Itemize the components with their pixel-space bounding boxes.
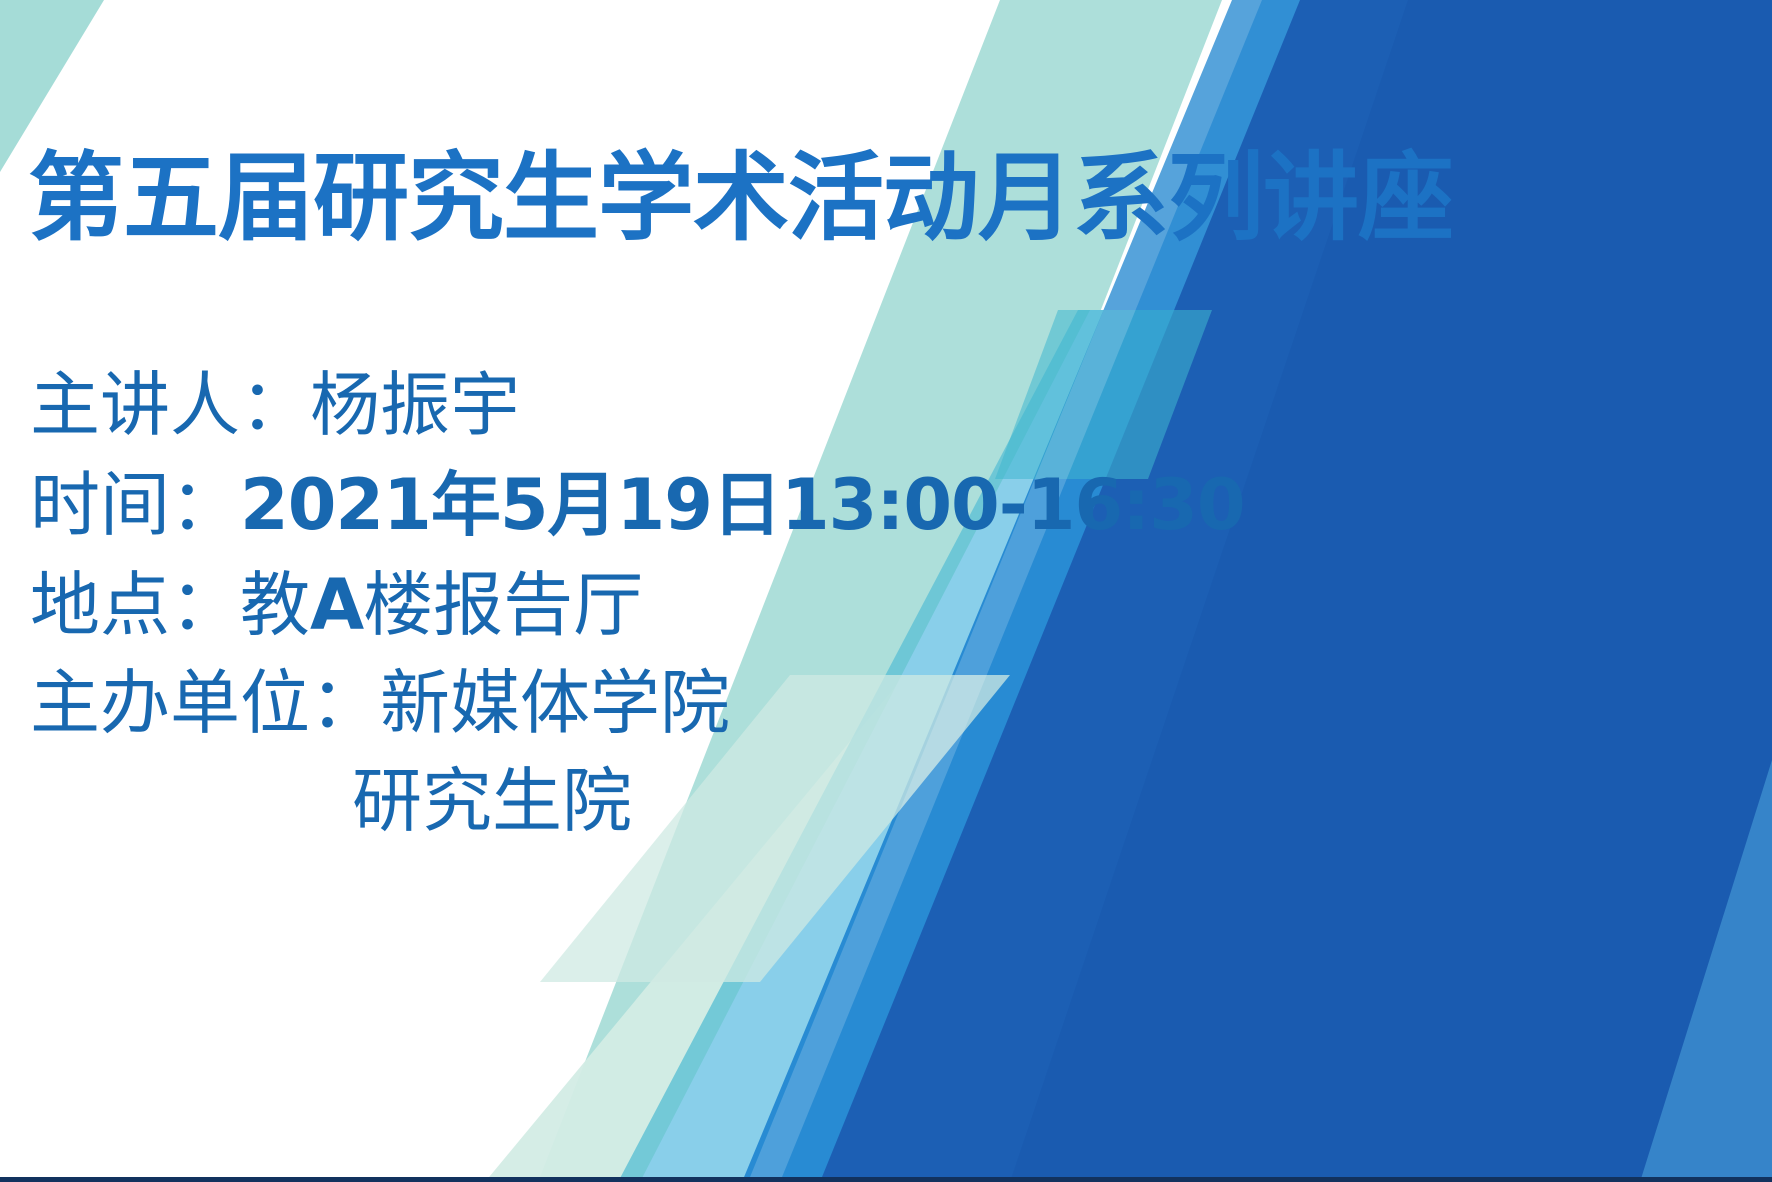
detail-line-organizer: 主办单位：新媒体学院 <box>30 656 1245 754</box>
detail-line-speaker: 主讲人：杨振宇 <box>30 358 1245 456</box>
detail-line-organizer-second: 研究生院 <box>30 754 1245 852</box>
detail-value-location-part2: A <box>310 564 363 646</box>
detail-line-location: 地点：教A楼报告厅 <box>30 556 1245 656</box>
detail-value-location-part3: 楼报告厅 <box>363 568 643 645</box>
presentation-slide: 第五届研究生学术活动月系列讲座 主讲人：杨振宇 时间：2021年5月19日13:… <box>0 0 1772 1182</box>
slide-details: 主讲人：杨振宇 时间：2021年5月19日13:00-16:30 地点：教A楼报… <box>30 358 1245 852</box>
detail-value-location-part1: 教 <box>240 568 310 645</box>
shape-sliver-blue-right <box>1640 760 1772 1182</box>
detail-line-time: 时间：2021年5月19日13:00-16:30 <box>30 456 1245 556</box>
bottom-rule <box>0 1177 1772 1182</box>
slide-title: 第五届研究生学术活动月系列讲座 <box>28 148 1453 249</box>
detail-value-organizer: 新媒体学院 <box>380 666 730 743</box>
detail-label-location: 地点： <box>30 568 240 645</box>
detail-label-speaker: 主讲人： <box>30 368 310 445</box>
detail-value-time: 2021年5月19日13:00-16:30 <box>240 464 1245 546</box>
detail-label-time: 时间： <box>30 468 240 545</box>
detail-value-organizer-second: 研究生院 <box>352 764 632 841</box>
detail-value-speaker: 杨振宇 <box>310 368 520 445</box>
detail-label-organizer: 主办单位： <box>30 666 380 743</box>
